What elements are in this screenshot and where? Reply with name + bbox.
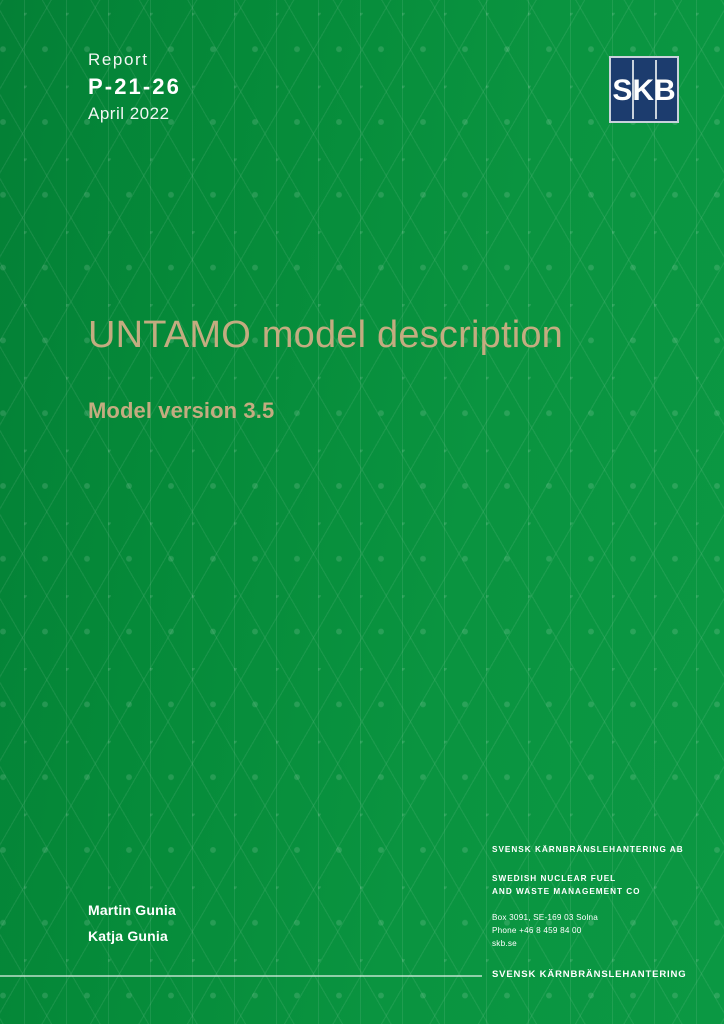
page-title: UNTAMO model description — [88, 311, 563, 359]
footer-wordmark: SVENSK KÄRNBRÄNSLEHANTERING — [492, 968, 687, 982]
report-number: P-21-26 — [88, 73, 181, 101]
logo-text: SKB — [612, 76, 675, 106]
page-subtitle: Model version 3.5 — [88, 396, 274, 426]
report-identifier-block: Report P-21-26 April 2022 — [88, 48, 181, 126]
company-phone: Phone +46 8 459 84 00 — [492, 924, 684, 937]
spacer — [492, 898, 684, 911]
company-legal-name: SVENSK KÄRNBRÄNSLEHANTERING AB — [492, 843, 684, 856]
report-label: Report — [88, 48, 181, 72]
author-list: Martin Gunia Katja Gunia — [88, 897, 176, 949]
author-name: Katja Gunia — [88, 923, 176, 949]
skb-logo: SKB — [609, 56, 679, 123]
company-address: Box 3091, SE-169 03 Solna — [492, 911, 684, 924]
report-cover-page: Report P-21-26 April 2022 SKB UNTAMO mod… — [0, 0, 724, 1024]
company-info-block: SVENSK KÄRNBRÄNSLEHANTERING AB SWEDISH N… — [492, 843, 684, 950]
report-date: April 2022 — [88, 102, 181, 126]
company-website[interactable]: skb.se — [492, 937, 684, 950]
company-english-name-line2: AND WASTE MANAGEMENT CO — [492, 885, 684, 898]
spacer — [492, 856, 684, 872]
footer-divider-line — [0, 975, 482, 977]
company-english-name-line1: SWEDISH NUCLEAR FUEL — [492, 872, 684, 885]
author-name: Martin Gunia — [88, 897, 176, 923]
